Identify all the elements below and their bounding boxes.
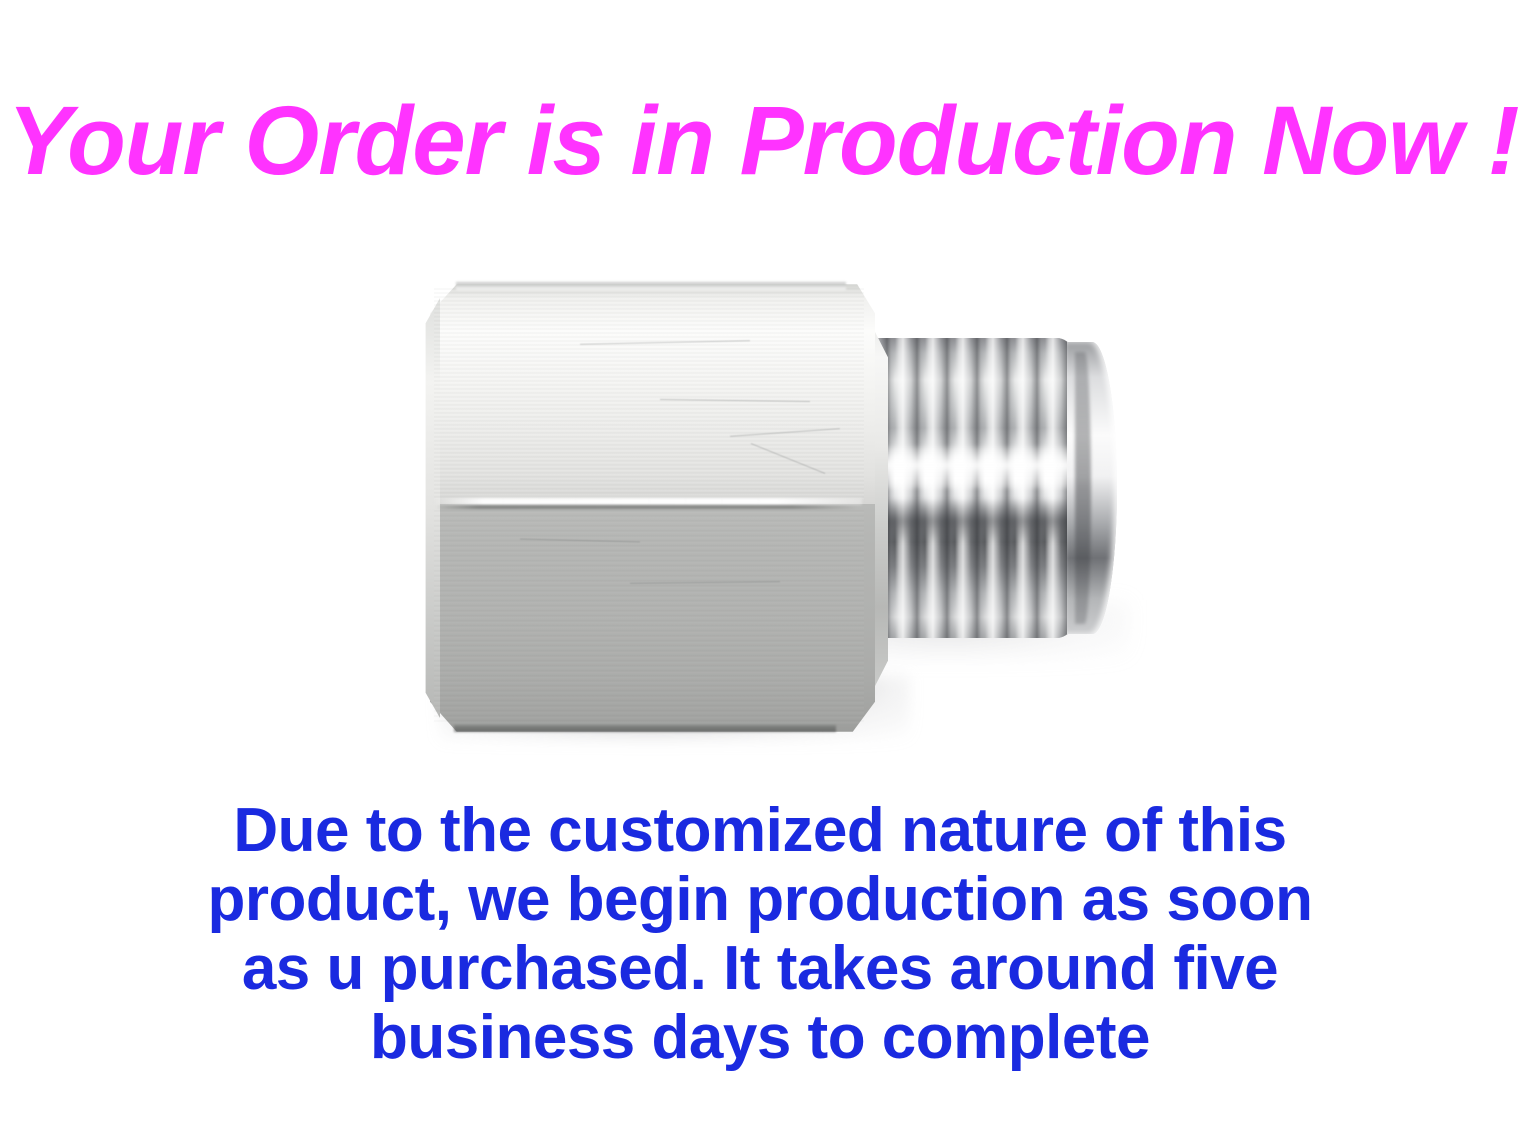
notice-line-2: product, we begin production as soon: [0, 865, 1520, 934]
notice-line-4: business days to complete: [0, 1003, 1520, 1072]
promo-image-canvas: Your Order is in Production Now !: [0, 0, 1520, 1140]
hex-facet-edge-shadow: [436, 505, 856, 509]
product-photo: [380, 250, 1170, 770]
hex-body: [430, 282, 880, 742]
thread-end-chamfer: [1075, 352, 1091, 624]
hex-facet-edge-highlight: [432, 498, 862, 505]
notice-line-3: as u purchased. It takes around five: [0, 934, 1520, 1003]
hex-bottom-edge: [454, 725, 836, 732]
hex-brushed-texture-lower: [434, 510, 864, 724]
hex-brushed-texture-upper: [434, 288, 864, 500]
notice-line-1: Due to the customized nature of this: [0, 796, 1520, 865]
hex-top-bevel: [456, 282, 846, 290]
page-title: Your Order is in Production Now !: [8, 92, 1513, 189]
production-notice: Due to the customized nature of this pro…: [0, 796, 1520, 1072]
